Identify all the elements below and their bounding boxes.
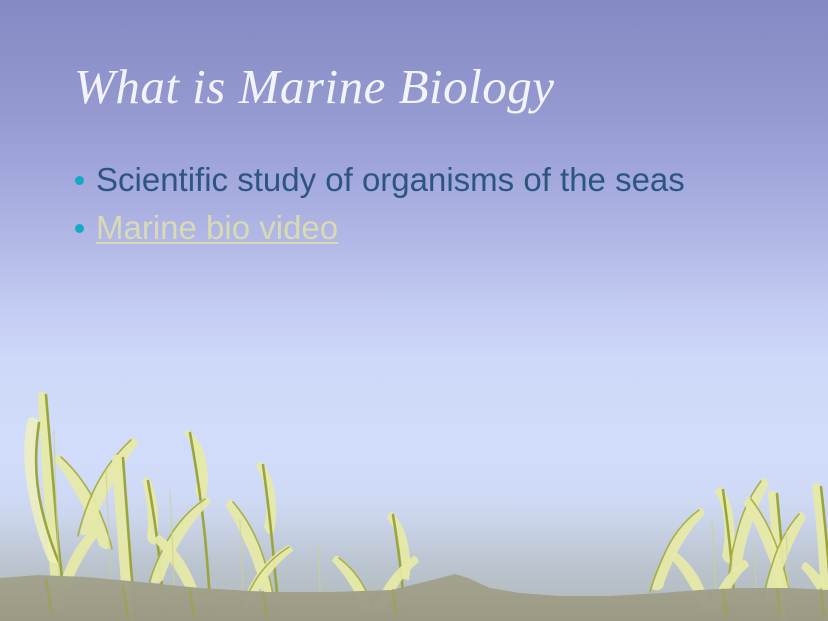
bullet-text-scientific-study: Scientific study of organisms of the sea…: [96, 160, 802, 200]
ground-band: [0, 574, 828, 621]
slide-title: What is Marine Biology: [74, 58, 774, 116]
bullet-marker-icon: [62, 208, 96, 248]
list-item: Marine bio video: [62, 208, 802, 248]
reed-grass-cluster-right: [650, 478, 828, 621]
slide-canvas: .blade { fill: #e6eaa6; stroke: none; op…: [0, 0, 828, 621]
reed-grass-cluster-left: [24, 392, 419, 621]
bullet-marker-icon: [62, 160, 96, 200]
hyperlink-marine-bio-video[interactable]: Marine bio video: [96, 208, 802, 248]
list-item: Scientific study of organisms of the sea…: [62, 160, 802, 200]
slide-body: Scientific study of organisms of the sea…: [62, 160, 802, 256]
